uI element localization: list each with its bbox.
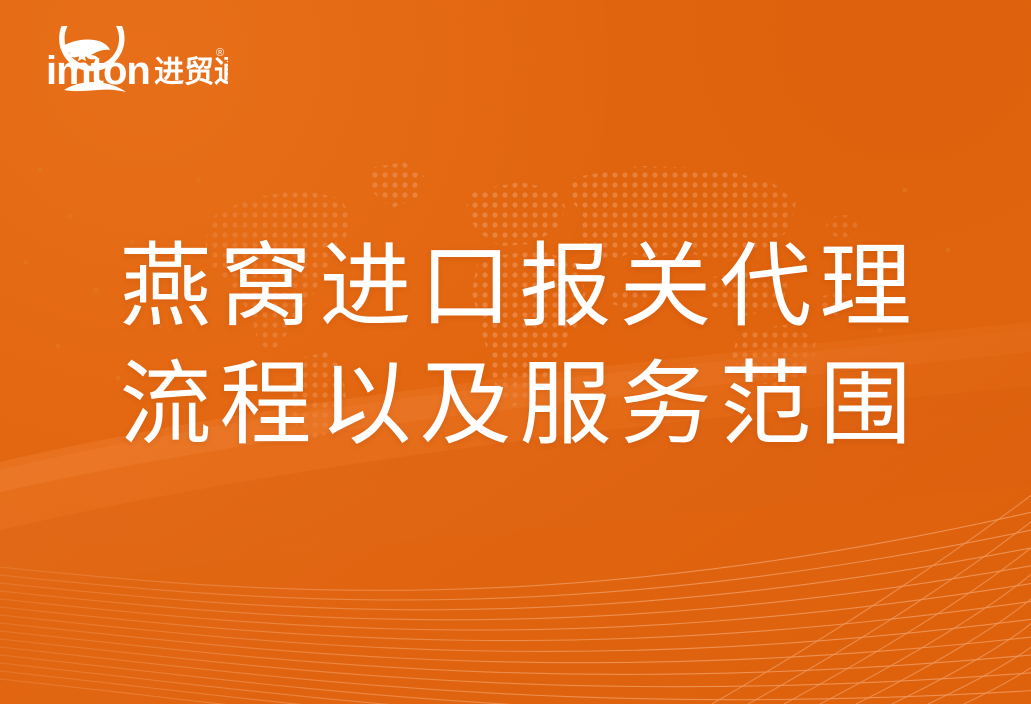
title-line-1: 燕窝进口报关代理	[0, 228, 1031, 346]
logo-latin-wordmark: imton	[46, 49, 150, 93]
promotional-banner: imton 进贸通 ® 燕窝进口报关代理 流程以及服务范围	[0, 0, 1031, 704]
brand-logo[interactable]: imton 进贸通 ®	[38, 26, 228, 104]
registered-trademark-icon: ®	[216, 47, 224, 59]
title-line-2: 流程以及服务范围	[0, 346, 1031, 464]
hairline-fan-decoration	[0, 444, 1031, 704]
logo-cn-wordmark: 进贸通	[154, 56, 228, 89]
page-title: 燕窝进口报关代理 流程以及服务范围	[0, 228, 1031, 464]
